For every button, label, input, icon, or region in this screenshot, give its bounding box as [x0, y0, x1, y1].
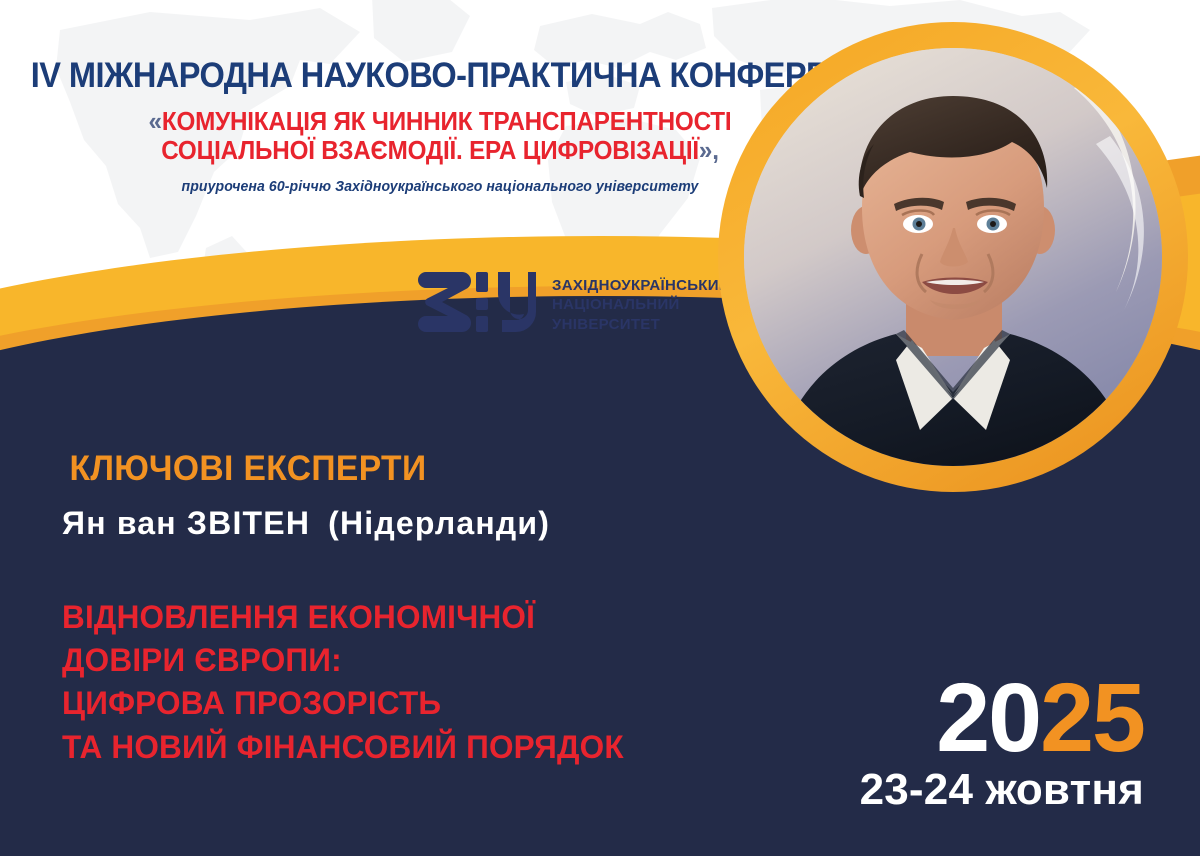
talk-title-line-4: ТА НОВИЙ ФІНАНСОВИЙ ПОРЯДОК [62, 726, 624, 769]
open-quote-glyph: « [149, 108, 162, 136]
event-year: 2025 [860, 673, 1144, 762]
talk-title-line-1: ВІДНОВЛЕННЯ ЕКОНОМІЧНОЇ [62, 596, 624, 639]
speaker-country: (Нідерланди) [328, 505, 550, 541]
theme-text-line-1: КОМУНІКАЦІЯ ЯК ЧИННИК ТРАНСПАРЕНТНОСТІ [162, 108, 732, 136]
key-experts-label: КЛЮЧОВІ ЕКСПЕРТИ [69, 449, 426, 489]
event-date: 2025 23-24 жовтня [860, 673, 1144, 812]
talk-title-line-2: ДОВІРИ ЄВРОПИ: [62, 639, 624, 682]
talk-title: ВІДНОВЛЕННЯ ЕКОНОМІЧНОЇ ДОВІРИ ЄВРОПИ: Ц… [62, 596, 624, 769]
conference-poster: IV МІЖНАРОДНА НАУКОВО-ПРАКТИЧНА КОНФЕРЕН… [0, 0, 1200, 856]
event-days: 23-24 жовтня [860, 768, 1144, 812]
portrait-edge-highlight [1068, 48, 1200, 478]
university-logo: ЗАХІДНОУКРАЇНСЬКИЙ НАЦІОНАЛЬНИЙ УНІВЕРСИ… [418, 266, 730, 344]
speaker-name-row: Ян ван ЗВІТЕН(Нідерланди) [62, 505, 550, 542]
znu-monogram-icon [418, 266, 536, 344]
speaker-portrait [698, 6, 1200, 526]
event-year-second-half: 25 [1040, 663, 1144, 772]
talk-title-line-3: ЦИФРОВА ПРОЗОРІСТЬ [62, 682, 624, 725]
speaker-name: Ян ван ЗВІТЕН [62, 505, 310, 541]
event-year-first-half: 20 [936, 663, 1040, 772]
theme-text-line-2: СОЦІАЛЬНОЇ ВЗАЄМОДІЇ. ЕРА ЦИФРОВІЗАЦІЇ [161, 137, 699, 165]
